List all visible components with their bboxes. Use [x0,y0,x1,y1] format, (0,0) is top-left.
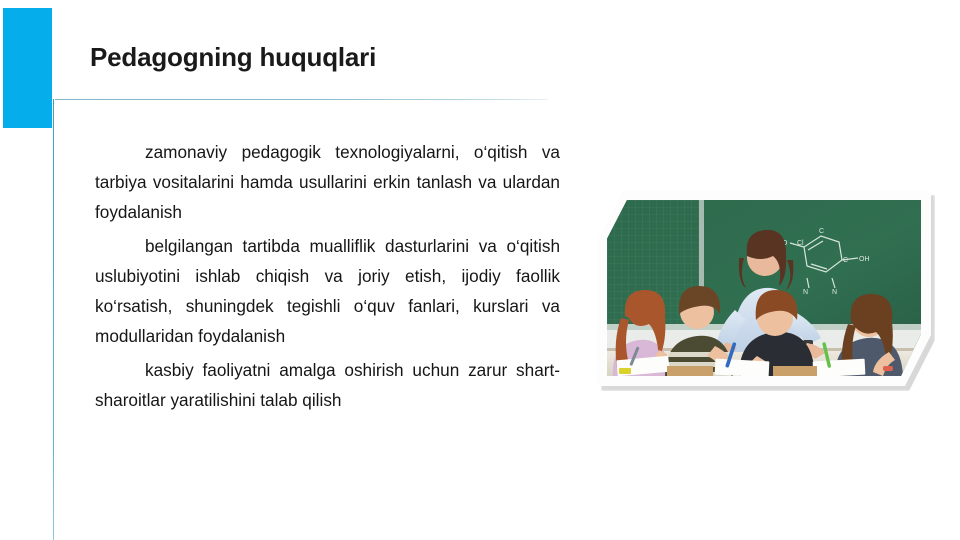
left-vertical-rule [53,99,54,540]
classroom-photo: HO Cl OH N N C C [607,200,921,376]
svg-text:N: N [803,289,808,296]
classroom-photo-frame: HO Cl OH N N C C [597,190,931,386]
page-title: Pedagogning huquqlari [90,40,560,74]
svg-text:N: N [832,289,837,296]
svg-text:C: C [843,257,848,264]
accent-block [3,8,52,128]
body-paragraph-1: zamonaviy pedagogik texnologiyalarni, o‘… [95,137,560,227]
title-underline-rule [55,99,548,100]
body-paragraph-2: belgilangan tartibda mualliflik dasturla… [95,231,560,351]
classroom-scene-illustration: HO Cl OH N N C C [607,200,921,376]
slide-canvas: Pedagogning huquqlari zamonaviy pedagogi… [0,0,960,540]
svg-text:C: C [819,228,824,235]
body-copy: zamonaviy pedagogik texnologiyalarni, o‘… [95,137,560,415]
svg-text:Cl: Cl [797,240,804,247]
body-paragraph-3: kasbiy faoliyatni amalga oshirish uchun … [95,355,560,415]
svg-text:OH: OH [859,256,870,263]
